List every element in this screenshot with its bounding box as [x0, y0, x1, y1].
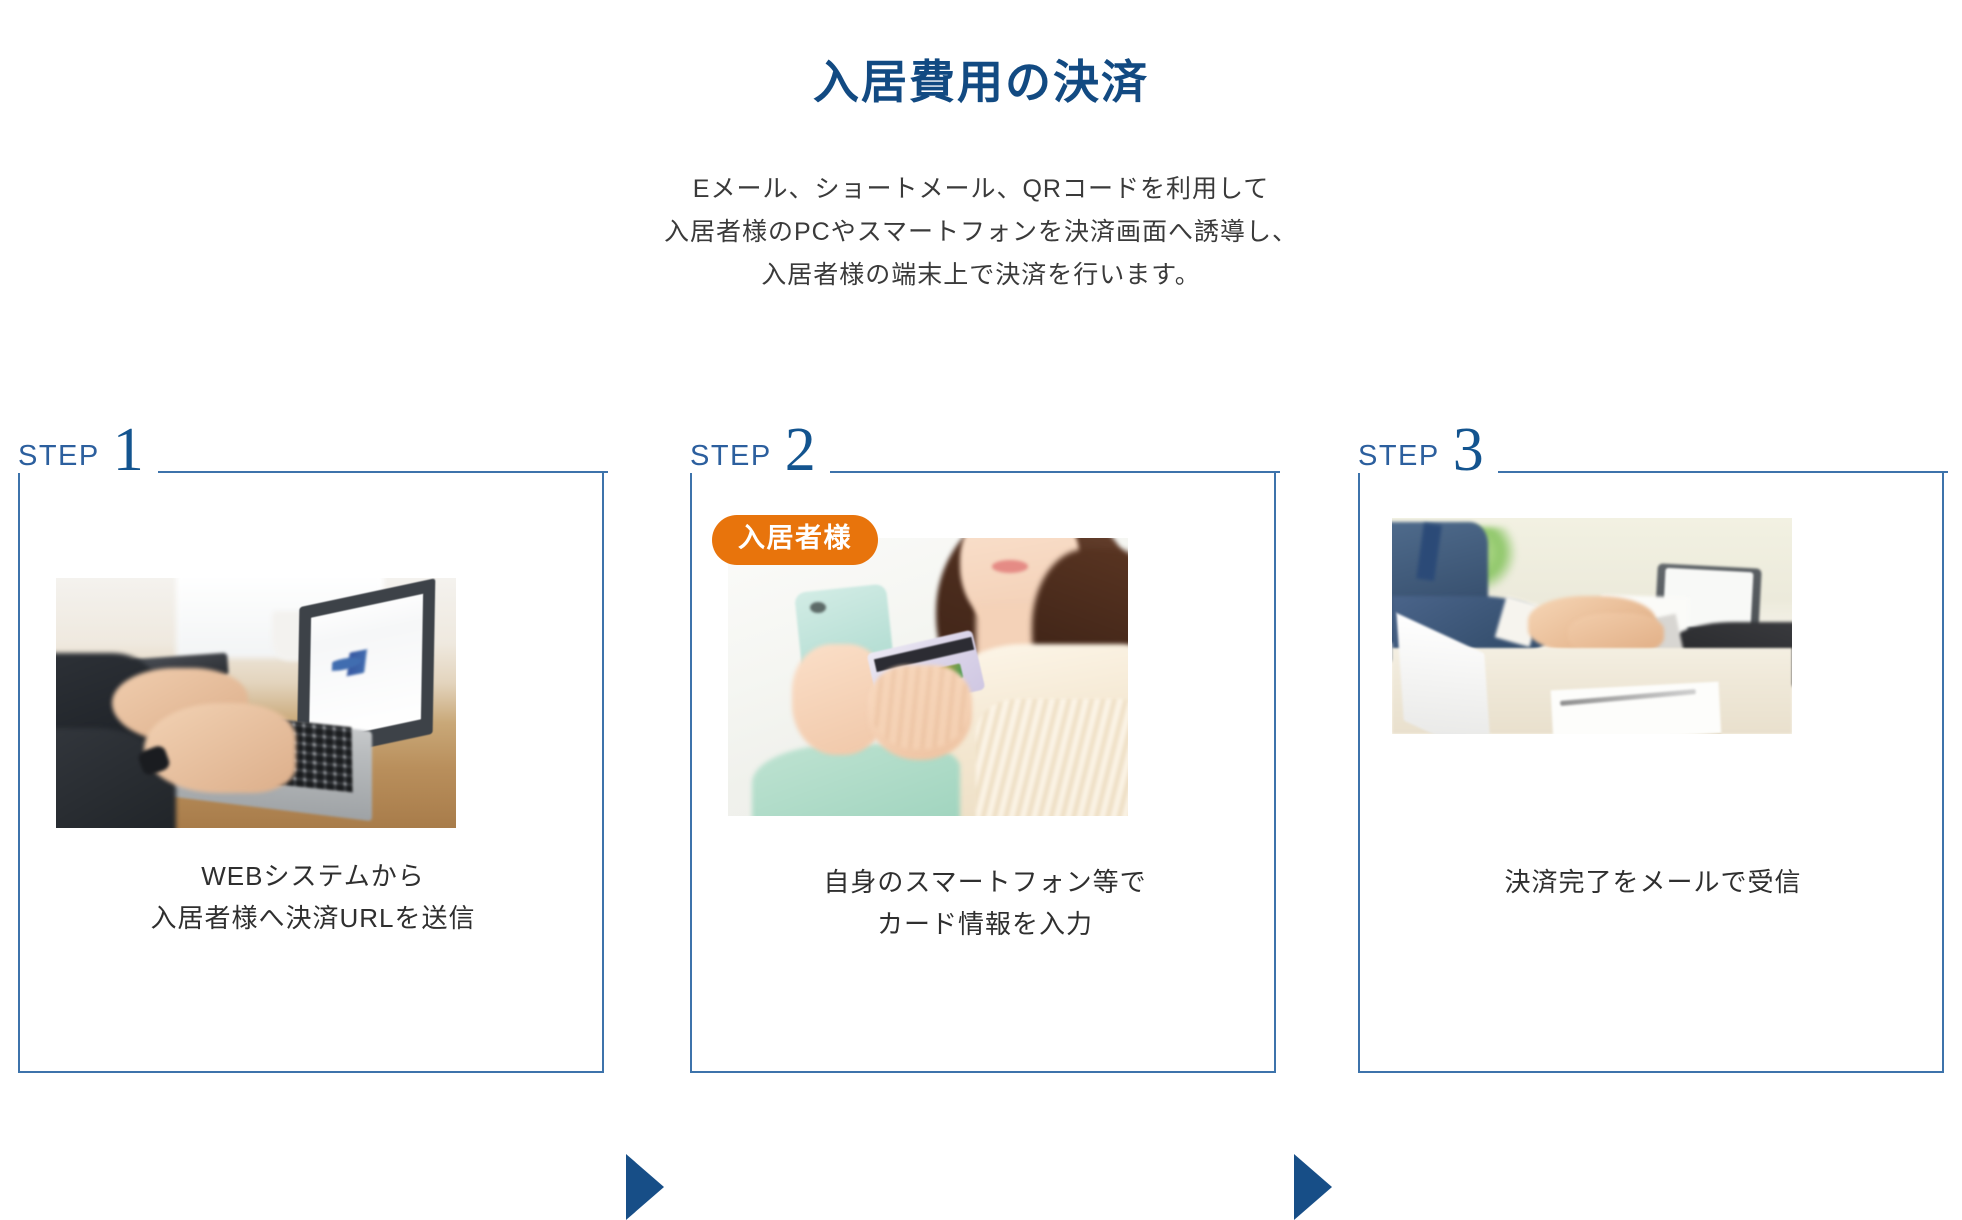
step-2-photo	[728, 538, 1128, 816]
step-2-caption-line-2: カード情報を入力	[692, 903, 1278, 945]
step-card-1: STEP 1 WEBシステムから	[18, 418, 608, 1078]
step-card-3: STEP 3	[1358, 418, 1948, 1078]
step-3-number: 3	[1453, 425, 1484, 476]
step-1-label: STEP	[18, 442, 100, 476]
step-2-caption-line-1: 自身のスマートフォン等で	[692, 861, 1278, 903]
arrow-step1-to-step2-icon	[626, 1154, 664, 1220]
step-1-caption: WEBシステムから 入居者様へ決済URLを送信	[20, 855, 606, 939]
step-1-frame: WEBシステムから 入居者様へ決済URLを送信	[18, 473, 604, 1073]
page-title: 入居費用の決済	[0, 53, 1962, 113]
lead-line-3: 入居者様の端末上で決済を行います。	[0, 254, 1962, 297]
lead-paragraph: Eメール、ショートメール、QRコードを利用して 入居者様のPCやスマートフォンを…	[0, 168, 1962, 297]
arrow-step2-to-step3-icon	[1294, 1154, 1332, 1220]
step-3-header: STEP 3	[1358, 418, 1948, 476]
step-1-photo	[56, 578, 456, 828]
step-3-photo	[1392, 518, 1792, 734]
step-3-caption: 決済完了をメールで受信	[1360, 861, 1946, 903]
step-1-caption-line-2: 入居者様へ決済URLを送信	[20, 897, 606, 939]
step-1-caption-line-1: WEBシステムから	[20, 855, 606, 897]
step-3-frame: 決済完了をメールで受信	[1358, 473, 1944, 1073]
resident-badge: 入居者様	[712, 515, 878, 565]
step-card-2: STEP 2 入居者様	[690, 418, 1280, 1078]
lead-line-1: Eメール、ショートメール、QRコードを利用して	[0, 168, 1962, 211]
step-1-number: 1	[113, 425, 144, 476]
step-2-caption: 自身のスマートフォン等で カード情報を入力	[692, 861, 1278, 945]
step-3-label: STEP	[1358, 442, 1440, 476]
step-3-caption-line-1: 決済完了をメールで受信	[1360, 861, 1946, 903]
step-2-label: STEP	[690, 442, 772, 476]
lead-line-2: 入居者様のPCやスマートフォンを決済画面へ誘導し、	[0, 211, 1962, 254]
step-2-number: 2	[785, 425, 816, 476]
step-1-header: STEP 1	[18, 418, 608, 476]
steps-row: STEP 1 WEBシステムから	[0, 418, 1962, 1078]
step-2-header: STEP 2	[690, 418, 1280, 476]
step-2-frame: 入居者様 自身のスマートフォン等で	[690, 473, 1276, 1073]
